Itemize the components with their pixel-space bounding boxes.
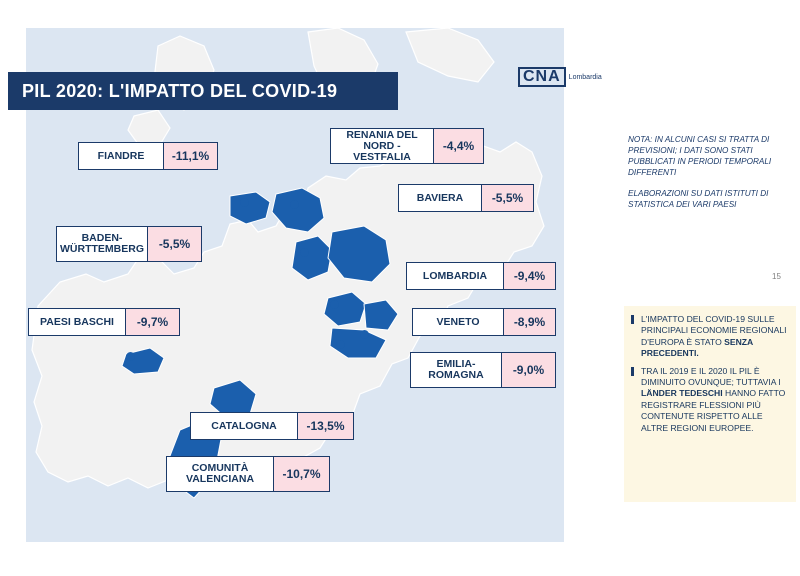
takeaway-2-pre: TRA IL 2019 E IL 2020 IL PIL È DIMINUITO… (641, 366, 781, 387)
label-emilia-value: -9,0% (502, 352, 556, 388)
label-veneto[interactable]: VENETO -8,9% (412, 308, 556, 336)
label-valenciana-name: COMUNITÀ VALENCIANA (166, 456, 274, 492)
source-note-line-2: ELABORAZIONI SU DATI ISTITUTI DI STATIST… (628, 188, 794, 210)
marker-renania (290, 200, 299, 209)
label-catalogna[interactable]: CATALOGNA -13,5% (190, 412, 354, 440)
label-catalogna-value: -13,5% (298, 412, 354, 440)
label-fiandre[interactable]: FIANDRE -11,1% (78, 142, 218, 170)
marker-veneto (360, 330, 369, 339)
marker-baden (300, 248, 309, 257)
label-baden[interactable]: BADEN-WÜRTTEMBERG -5,5% (56, 226, 202, 262)
logo-brand: CNA (518, 67, 566, 87)
label-emilia-name: EMILIA-ROMAGNA (410, 352, 502, 388)
takeaways-box: L'IMPATTO DEL COVID-19 SULLE PRINCIPALI … (624, 306, 796, 502)
takeaway-2-bold: LÄNDER TEDESCHI (641, 388, 723, 398)
label-veneto-name: VENETO (412, 308, 504, 336)
list-item: TRA IL 2019 E IL 2020 IL PIL È DIMINUITO… (630, 366, 788, 434)
label-baden-name: BADEN-WÜRTTEMBERG (56, 226, 148, 262)
source-note: NOTA: IN ALCUNI CASI SI TRATTA DI PREVIS… (628, 134, 794, 220)
label-fiandre-value: -11,1% (164, 142, 218, 170)
label-catalogna-name: CATALOGNA (190, 412, 298, 440)
marker-fiandre (240, 198, 249, 207)
takeaway-1-pre: L'IMPATTO DEL COVID-19 SULLE PRINCIPALI … (641, 314, 787, 347)
label-baden-value: -5,5% (148, 226, 202, 262)
marker-paesi-baschi (126, 352, 135, 361)
label-baviera-name: BAVIERA (398, 184, 482, 212)
marker-lombardia (330, 300, 339, 309)
label-valenciana-value: -10,7% (274, 456, 330, 492)
label-lombardia[interactable]: LOMBARDIA -9,4% (406, 262, 556, 290)
slide: PIL 2020: L'IMPATTO DEL COVID-19 CNA Lom… (0, 0, 800, 576)
label-fiandre-name: FIANDRE (78, 142, 164, 170)
label-renania[interactable]: RENANIA DEL NORD - VESTFALIA -4,4% (330, 128, 484, 164)
label-renania-value: -4,4% (434, 128, 484, 164)
cna-lombardia-logo: CNA Lombardia (518, 64, 596, 90)
label-valenciana[interactable]: COMUNITÀ VALENCIANA -10,7% (166, 456, 330, 492)
label-paesi-baschi[interactable]: PAESI BASCHI -9,7% (28, 308, 180, 336)
label-veneto-value: -8,9% (504, 308, 556, 336)
label-lombardia-value: -9,4% (504, 262, 556, 290)
label-lombardia-name: LOMBARDIA (406, 262, 504, 290)
marker-emilia (336, 340, 345, 349)
page-number: 15 (772, 272, 781, 281)
label-emilia[interactable]: EMILIA-ROMAGNA -9,0% (410, 352, 556, 388)
label-paesi-baschi-name: PAESI BASCHI (28, 308, 126, 336)
label-baviera-value: -5,5% (482, 184, 534, 212)
label-renania-name: RENANIA DEL NORD - VESTFALIA (330, 128, 434, 164)
label-baviera[interactable]: BAVIERA -5,5% (398, 184, 534, 212)
label-paesi-baschi-value: -9,7% (126, 308, 180, 336)
slide-title-bar: PIL 2020: L'IMPATTO DEL COVID-19 (8, 72, 398, 110)
page-title: PIL 2020: L'IMPATTO DEL COVID-19 (8, 81, 337, 102)
list-item: L'IMPATTO DEL COVID-19 SULLE PRINCIPALI … (630, 314, 788, 360)
takeaways-list: L'IMPATTO DEL COVID-19 SULLE PRINCIPALI … (624, 306, 796, 448)
logo-subtitle: Lombardia (569, 73, 602, 82)
source-note-line-1: NOTA: IN ALCUNI CASI SI TRATTA DI PREVIS… (628, 134, 794, 178)
